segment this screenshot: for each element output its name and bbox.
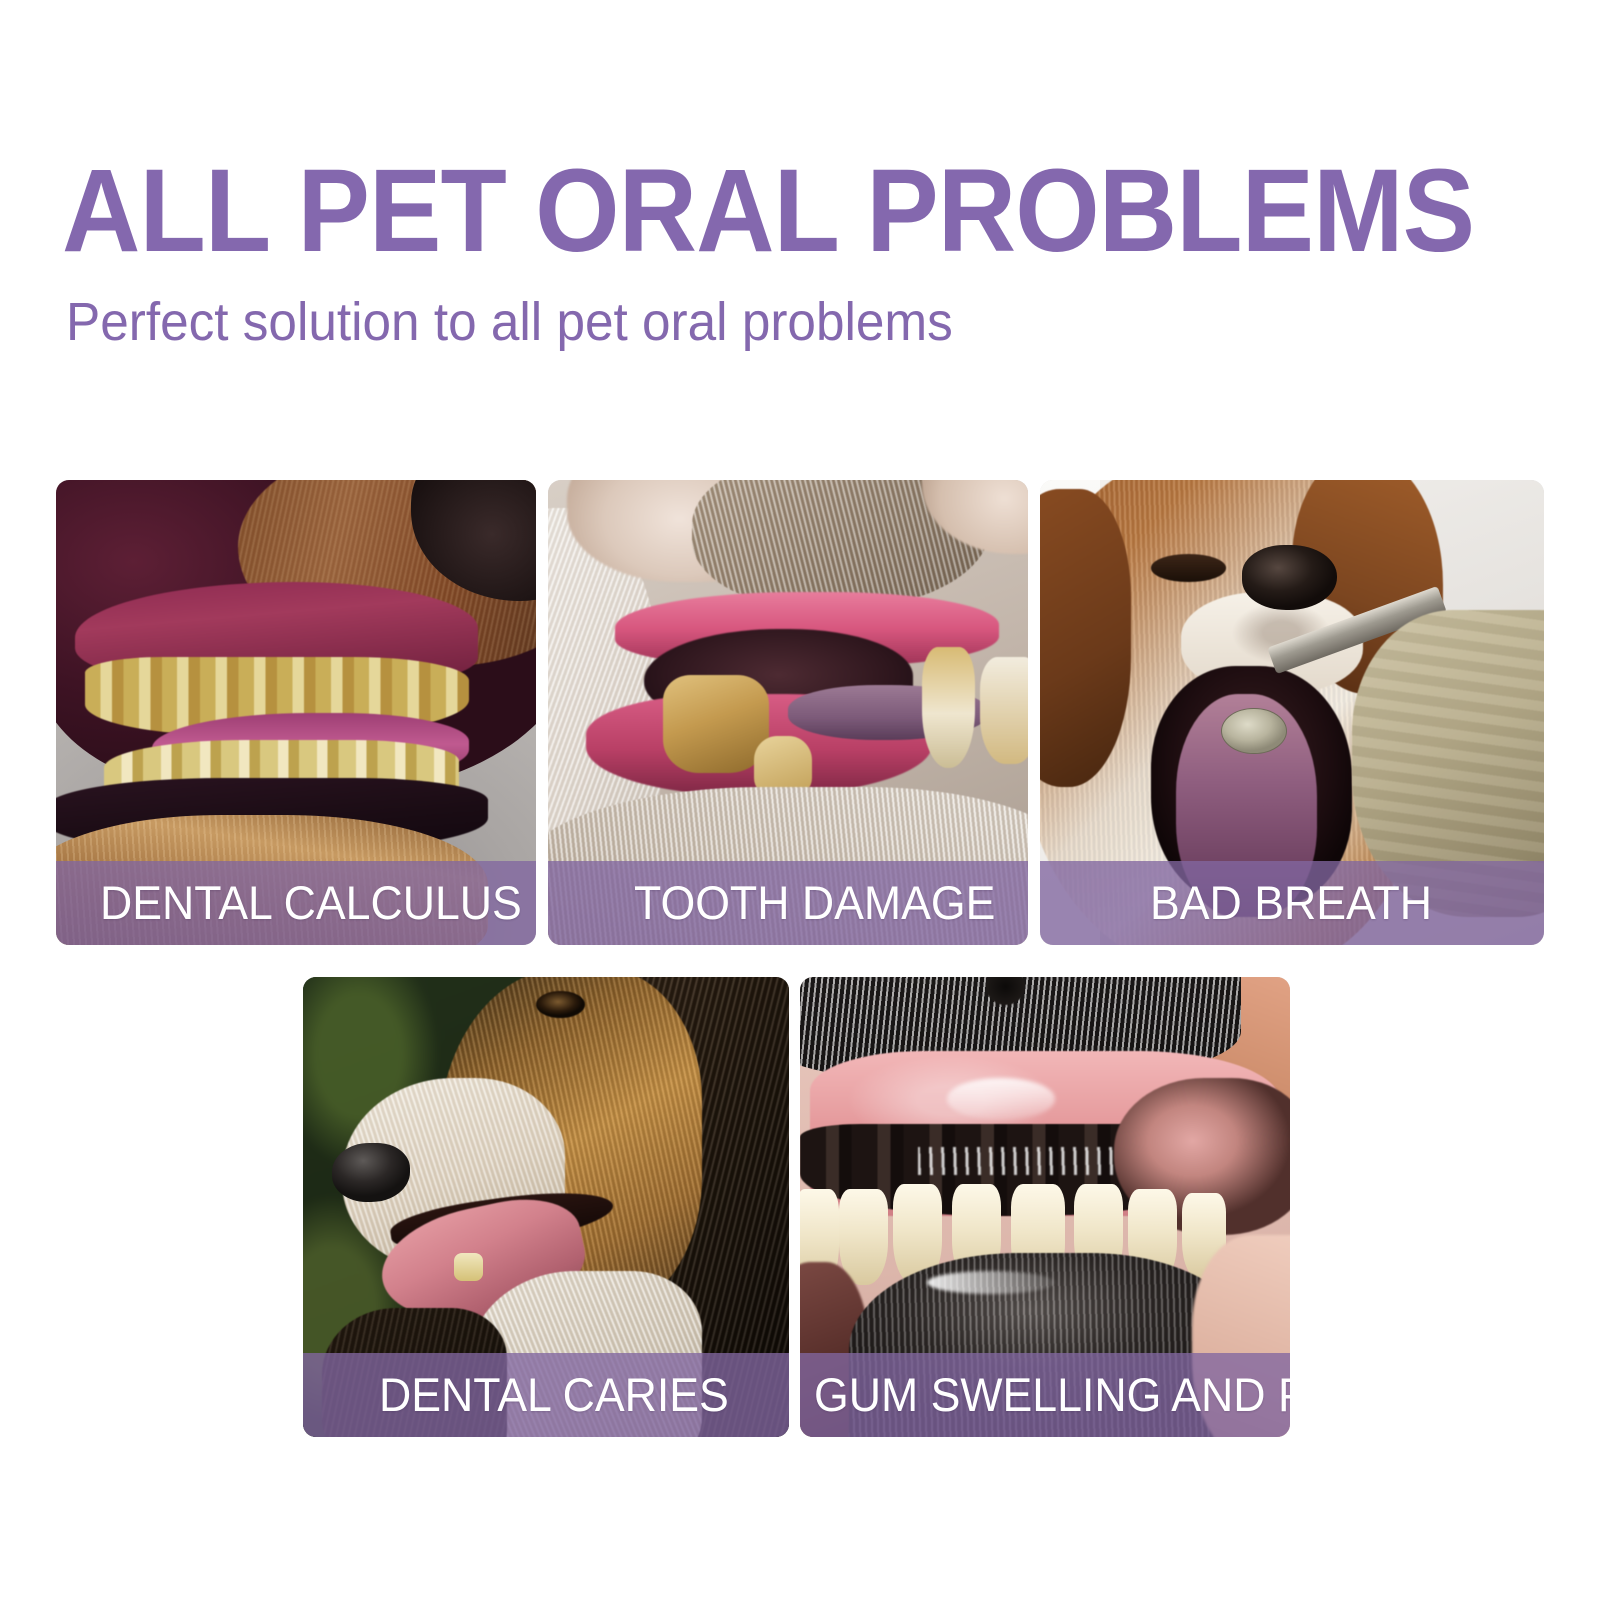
tooth: [839, 1189, 888, 1286]
card-caption-band: GUM SWELLING AND PAIN: [800, 1353, 1290, 1437]
damaged-molar: [663, 675, 769, 773]
beagle-nose: [1242, 545, 1338, 610]
gum-line-sheen: [918, 1147, 1143, 1175]
page-subtitle: Perfect solution to all pet oral problem…: [66, 292, 953, 352]
problem-card-tooth-damage[interactable]: TOOTH DAMAGE: [548, 480, 1028, 945]
card-caption-text: DENTAL CALCULUS: [100, 878, 522, 928]
card-caption-text: DENTAL CARIES: [379, 1370, 729, 1420]
collie-eye: [536, 991, 585, 1019]
card-caption-band: BAD BREATH: [1040, 861, 1544, 945]
page-title: ALL PET ORAL PROBLEMS: [62, 152, 1474, 270]
card-caption-text: BAD BREATH: [1150, 878, 1432, 928]
header-block: ALL PET ORAL PROBLEMS Perfect solution t…: [0, 0, 1600, 400]
gum-highlight: [947, 1078, 1055, 1119]
canine-tooth-second: [980, 657, 1028, 764]
dental-mirror-icon: [1221, 708, 1287, 755]
problem-card-dental-calculus[interactable]: DENTAL CALCULUS: [56, 480, 536, 945]
problem-card-bad-breath[interactable]: BAD BREATH: [1040, 480, 1544, 945]
collie-nose: [332, 1143, 410, 1203]
decayed-tooth: [454, 1253, 483, 1281]
card-caption-band: DENTAL CARIES: [303, 1353, 789, 1437]
problem-card-gum-swelling-and-pain[interactable]: GUM SWELLING AND PAIN: [800, 977, 1290, 1437]
card-caption-band: TOOTH DAMAGE: [548, 861, 1028, 945]
canine-tooth: [922, 647, 975, 768]
card-caption-text: GUM SWELLING AND PAIN: [814, 1370, 1290, 1420]
card-caption-band: DENTAL CALCULUS: [56, 861, 536, 945]
card-caption-text: TOOTH DAMAGE: [634, 878, 995, 928]
problem-card-dental-caries[interactable]: DENTAL CARIES: [303, 977, 789, 1437]
